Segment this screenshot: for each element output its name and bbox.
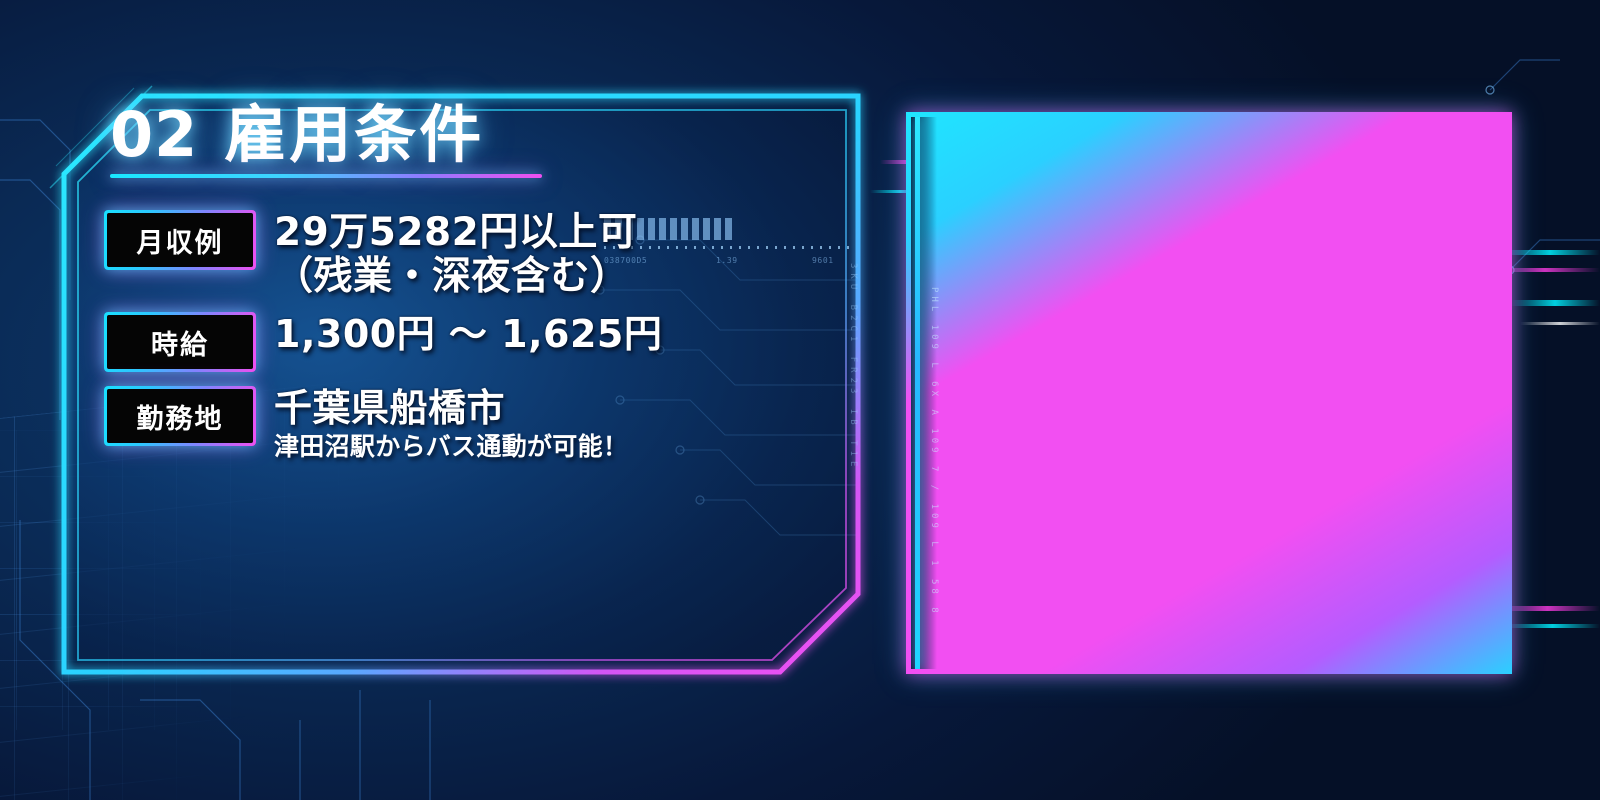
glitch-streak xyxy=(1505,624,1600,628)
value-line-1: 千葉県船橋市 xyxy=(274,387,804,430)
badge-hourly-wage: 時給 xyxy=(104,312,256,372)
condition-row: 月収例 29万5282円以上可 （残業・深夜含む） xyxy=(104,210,804,298)
condition-value: 千葉県船橋市 津田沼駅からバス通動が可能！ xyxy=(274,386,804,462)
photo-card: PHL 109 L 6X A 109 7 / 109 L 1 58 8 xyxy=(906,112,1512,674)
photo-color-grade xyxy=(911,117,1507,669)
value-line-1: 1,300円 〜 1,625円 xyxy=(274,313,804,356)
photo-image: PHL 109 L 6X A 109 7 / 109 L 1 58 8 xyxy=(911,117,1507,669)
conditions-list: 月収例 29万5282円以上可 （残業・深夜含む） 時給 1,300円 〜 1,… xyxy=(104,210,804,476)
hud-vertical-text: 3KU B2C1 FR23 IB T1E xyxy=(848,263,858,471)
badge-monthly-income: 月収例 xyxy=(104,210,256,270)
value-subtext: 津田沼駅からバス通動が可能！ xyxy=(274,432,804,462)
photo-left-accent-bar xyxy=(915,117,920,669)
section-title: 雇用条件 xyxy=(224,84,484,174)
badge-label: 月収例 xyxy=(107,213,253,267)
condition-value: 1,300円 〜 1,625円 xyxy=(274,312,804,356)
slide-canvas: 038700D5 1.39 9601 3KU B2C1 FR23 IB T1E … xyxy=(0,0,1600,800)
section-number: 02 xyxy=(110,98,198,171)
section-heading: 02 雇用条件 xyxy=(110,84,484,174)
glitch-streak xyxy=(1520,322,1600,325)
value-line-1: 29万5282円以上可 xyxy=(274,211,804,255)
badge-label: 時給 xyxy=(107,315,253,369)
condition-row: 時給 1,300円 〜 1,625円 xyxy=(104,312,804,372)
badge-work-location: 勤務地 xyxy=(104,386,256,446)
badge-label: 勤務地 xyxy=(107,389,253,443)
condition-row: 勤務地 千葉県船橋市 津田沼駅からバス通動が可能！ xyxy=(104,386,804,462)
condition-value: 29万5282円以上可 （残業・深夜含む） xyxy=(274,210,804,298)
glitch-streak xyxy=(1500,250,1600,255)
value-line-2: （残業・深夜含む） xyxy=(274,255,804,299)
glitch-streak xyxy=(1510,300,1600,306)
heading-underline xyxy=(110,174,542,178)
photo-hud-vertical-text: PHL 109 L 6X A 109 7 / 109 L 1 58 8 xyxy=(929,287,939,617)
hud-micro-right: 9601 xyxy=(812,256,834,265)
